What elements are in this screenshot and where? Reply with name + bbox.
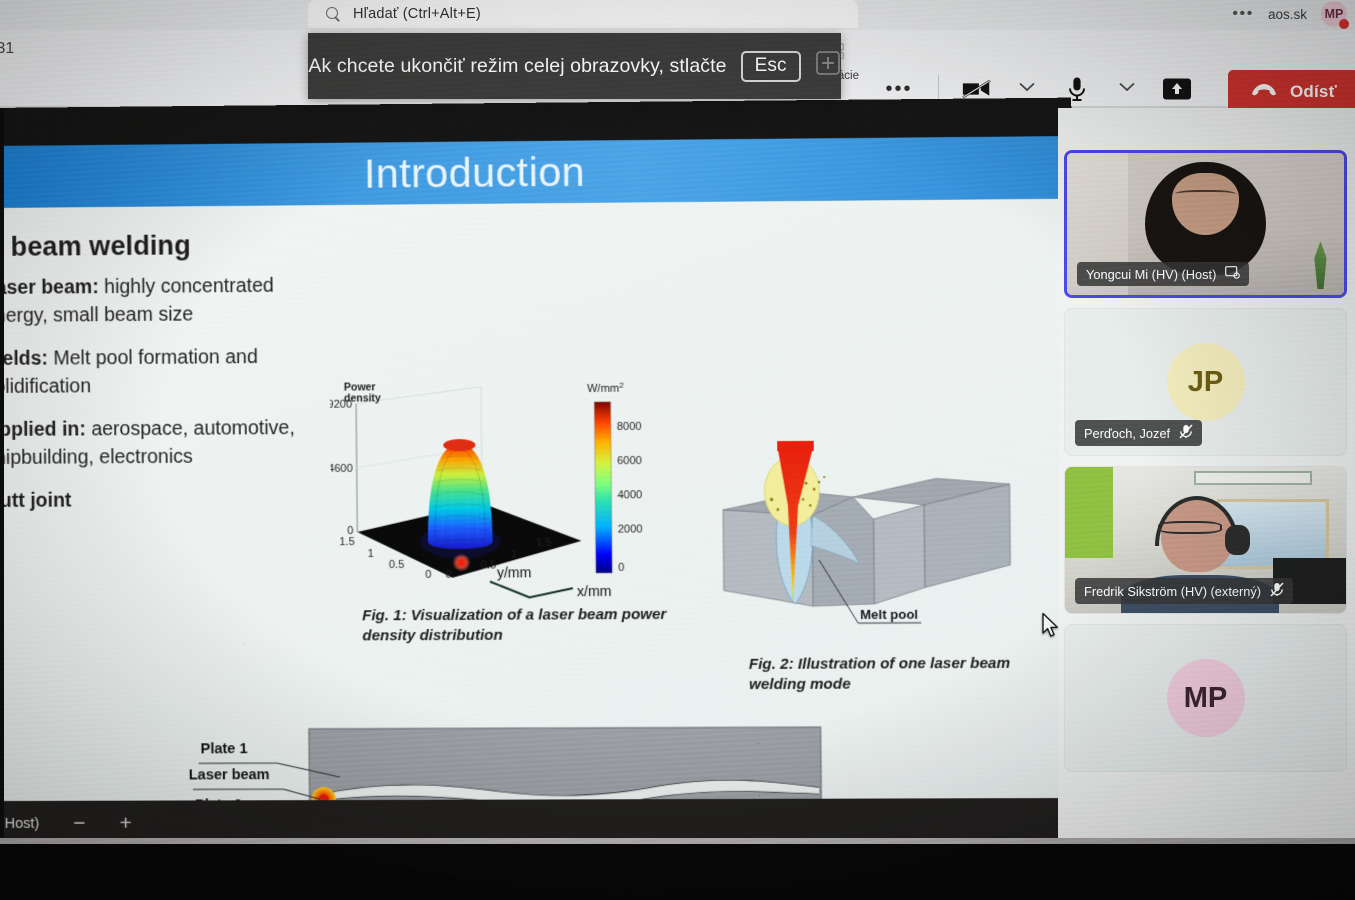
presenter-name: ) (Host): [0, 815, 39, 831]
fullscreen-hint-text: Ak chcete ukončiť režim celej obrazovky,…: [308, 55, 726, 78]
avatar: MP: [1167, 659, 1245, 737]
z-axis-label: Power: [344, 382, 376, 393]
slide-bullets: Laser beam: highly concentrated energy, …: [0, 271, 327, 529]
participant-tile-mp[interactable]: MP: [1064, 624, 1347, 772]
chevron-down-icon[interactable]: [1116, 80, 1138, 95]
monitor-bezel-left: [0, 108, 4, 838]
presence-dot: [1339, 19, 1349, 29]
participant-name-plate: Fredrik Sikström (HV) (externý): [1075, 578, 1293, 604]
z-tick-label: 4600: [330, 463, 353, 475]
bullet-lead: Applied in:: [0, 418, 86, 441]
leave-label: Odísť: [1290, 82, 1337, 102]
page-title: Introduction: [364, 149, 586, 198]
participant-tile-jozef-perdoch[interactable]: JP Perďoch, Jozef: [1064, 308, 1347, 456]
bullet-item: Butt joint: [0, 485, 327, 515]
account-domain: aos.sk: [1268, 7, 1307, 22]
x-axis-label: x/mm: [577, 583, 612, 599]
z-axis-label: density: [344, 393, 381, 404]
browser-tabstrip[interactable]: Hľadať (Ctrl+Alt+E): [308, 0, 858, 28]
figure-2-caption: Fig. 2: Illustration of one laser beam w…: [749, 654, 1024, 696]
bullet-lead: Laser beam:: [0, 276, 99, 299]
zoom-out-button[interactable]: −: [73, 811, 86, 835]
participant-name-plate: Perďoch, Jozef: [1075, 420, 1202, 446]
figure-3-butt-joint: Plate 1 Plate 2 Laser beam: [186, 721, 834, 801]
bullet-item: Applied in: aerospace, automotive, shipb…: [0, 414, 327, 473]
x-tick-label: 0: [425, 569, 431, 581]
hangup-icon: [1250, 82, 1278, 102]
meeting-timer: :31: [0, 40, 14, 58]
colorbar-tick: 8000: [617, 421, 642, 433]
participant-tile-yongcui-mi[interactable]: Yongcui Mi (HV) (Host): [1064, 150, 1347, 298]
avatar-initials: MP: [1184, 682, 1228, 715]
participant-name: Perďoch, Jozef: [1084, 426, 1170, 441]
participant-name-plate: Yongcui Mi (HV) (Host): [1077, 262, 1249, 286]
esc-key-badge: Esc: [741, 51, 801, 82]
chevron-down-icon[interactable]: [1016, 80, 1038, 95]
ellipsis-icon[interactable]: •••: [1232, 9, 1254, 19]
y-tick-label: 1: [511, 548, 517, 560]
participant-name: Fredrik Sikström (HV) (externý): [1084, 584, 1261, 599]
participant-name: Yongcui Mi (HV) (Host): [1086, 267, 1216, 282]
avatar: JP: [1167, 343, 1245, 421]
avatar[interactable]: MP: [1321, 1, 1347, 27]
slide-heading: er beam welding: [0, 230, 191, 263]
browser-account-area: ••• aos.sk MP: [1232, 0, 1347, 28]
background-ceiling-light: [1194, 471, 1312, 484]
shared-screen-region[interactable]: Introduction er beam welding Laser beam:…: [0, 98, 1078, 838]
colorbar-unit: W/mm2: [587, 381, 624, 395]
figure-1-surface-plot: 9200 4600 0 Power density 1.5 1 0.5 0 0 …: [330, 379, 666, 632]
y-axis-label: y/mm: [497, 564, 532, 580]
colorbar-tick: 4000: [617, 489, 642, 501]
participant-rail: Yongcui Mi (HV) (Host) JP Perďoch, Jozef: [1058, 108, 1355, 838]
colorbar-tick: 6000: [617, 455, 642, 467]
search-input[interactable]: Hľadať (Ctrl+Alt+E): [353, 6, 481, 22]
melt-pool-label: Melt pool: [860, 607, 918, 622]
x-tick-label: 0.5: [389, 559, 405, 571]
plate-1-label: Plate 1: [200, 741, 247, 757]
y-tick-label: 1.5: [536, 537, 552, 549]
x-tick-label: 1.5: [339, 536, 355, 548]
background-plant: [1305, 241, 1335, 289]
fullscreen-hint-banner: Ak chcete ukončiť režim celej obrazovky,…: [308, 33, 841, 99]
plus-icon[interactable]: [815, 50, 841, 82]
share-pin-icon: [1225, 266, 1240, 282]
search-icon: [326, 7, 341, 22]
figure-1-caption: Fig. 1: Visualization of a laser beam po…: [362, 605, 686, 647]
mouse-pointer-icon: [1041, 612, 1061, 645]
bezel-sheen: [0, 838, 1355, 844]
person-earcup: [1225, 525, 1250, 554]
avatar-initials: JP: [1188, 366, 1223, 399]
background-wall: [1065, 467, 1113, 558]
participant-tile-fredrik-sikstrom[interactable]: Fredrik Sikström (HV) (externý): [1064, 466, 1347, 614]
figure-2-welding-mode: Melt pool: [704, 436, 1021, 655]
bullet-item: Laser beam: highly concentrated energy, …: [0, 271, 325, 331]
presentation-slide: Introduction er beam welding Laser beam:…: [0, 136, 1078, 801]
browser-chrome: Hľadať (Ctrl+Alt+E) ••• aos.sk MP: [0, 0, 1355, 30]
y-tick-label: 0.5: [481, 559, 497, 571]
x-tick-label: 1: [368, 548, 374, 560]
colorbar-tick: 0: [618, 562, 624, 574]
person-glasses: [1175, 190, 1236, 200]
bullet-item: Welds: Melt pool formation and solidific…: [0, 343, 326, 402]
microphone-off-icon: [1179, 424, 1193, 442]
person-glasses: [1158, 521, 1223, 534]
share-screen-icon: [1162, 75, 1192, 103]
bullet-lead: Butt joint: [0, 489, 71, 511]
zoom-in-button[interactable]: +: [120, 811, 133, 835]
colorbar-tick: 2000: [618, 523, 643, 535]
monitor-bezel-bottom: [0, 838, 1355, 900]
y-tick-label: 0: [445, 569, 451, 581]
microphone-off-icon: [1270, 582, 1284, 600]
photographed-screen: Hľadať (Ctrl+Alt+E) ••• aos.sk MP :31 Ch…: [0, 0, 1355, 900]
bullet-lead: Welds:: [0, 348, 48, 370]
laser-beam-label: Laser beam: [189, 767, 270, 783]
